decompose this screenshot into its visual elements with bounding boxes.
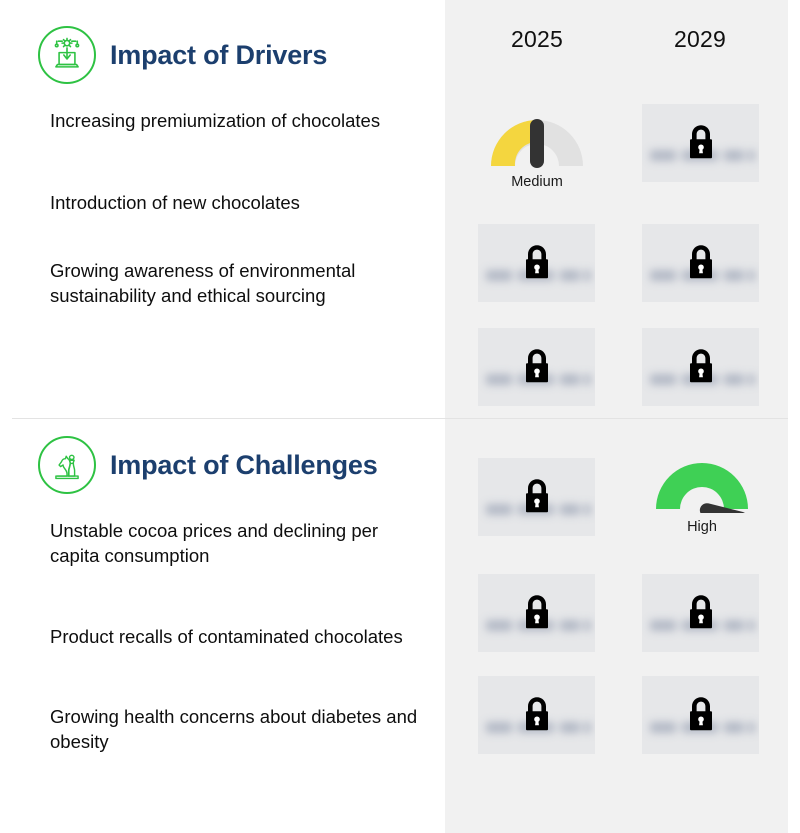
locked-cell[interactable] bbox=[642, 676, 759, 754]
section-divider bbox=[12, 418, 788, 419]
padlock-icon bbox=[684, 695, 718, 733]
section-title-challenges: Impact of Challenges bbox=[110, 450, 378, 481]
padlock-icon bbox=[520, 347, 554, 385]
section-header-drivers: Impact of Drivers bbox=[38, 26, 327, 84]
padlock-icon bbox=[684, 123, 718, 161]
padlock-icon bbox=[520, 695, 554, 733]
padlock-icon bbox=[684, 347, 718, 385]
gauge-medium-2025[interactable]: Medium bbox=[477, 112, 597, 190]
gauge-dial bbox=[477, 112, 597, 168]
padlock-icon bbox=[520, 477, 554, 515]
gauge-label: Medium bbox=[477, 174, 597, 190]
gauge-label: High bbox=[642, 519, 762, 535]
locked-cell[interactable] bbox=[478, 458, 595, 536]
list-item: Introduction of new chocolates bbox=[50, 190, 420, 215]
locked-cell[interactable] bbox=[478, 574, 595, 652]
locked-cell[interactable] bbox=[478, 676, 595, 754]
column-header-2029: 2029 bbox=[640, 26, 760, 53]
column-header-2025: 2025 bbox=[477, 26, 597, 53]
padlock-icon bbox=[684, 243, 718, 281]
list-item: Growing health concerns about diabetes a… bbox=[50, 704, 420, 754]
section-title-drivers: Impact of Drivers bbox=[110, 40, 327, 71]
locked-cell[interactable] bbox=[642, 104, 759, 182]
section-header-challenges: Impact of Challenges bbox=[38, 436, 378, 494]
padlock-icon bbox=[684, 593, 718, 631]
gauge-high-2029[interactable]: High bbox=[642, 455, 762, 535]
locked-cell[interactable] bbox=[478, 224, 595, 302]
locked-cell[interactable] bbox=[478, 328, 595, 406]
padlock-icon bbox=[520, 243, 554, 281]
list-item: Product recalls of contaminated chocolat… bbox=[50, 624, 420, 649]
gauge-dial bbox=[642, 455, 762, 513]
locked-cell[interactable] bbox=[642, 328, 759, 406]
locked-cell[interactable] bbox=[642, 224, 759, 302]
list-item: Growing awareness of environmental susta… bbox=[50, 258, 420, 308]
locked-cell[interactable] bbox=[642, 574, 759, 652]
padlock-icon bbox=[520, 593, 554, 631]
chess-pieces-icon bbox=[38, 436, 96, 494]
list-item: Increasing premiumization of chocolates bbox=[50, 108, 420, 133]
list-item: Unstable cocoa prices and declining per … bbox=[50, 518, 420, 568]
machine-gear-icon bbox=[38, 26, 96, 84]
